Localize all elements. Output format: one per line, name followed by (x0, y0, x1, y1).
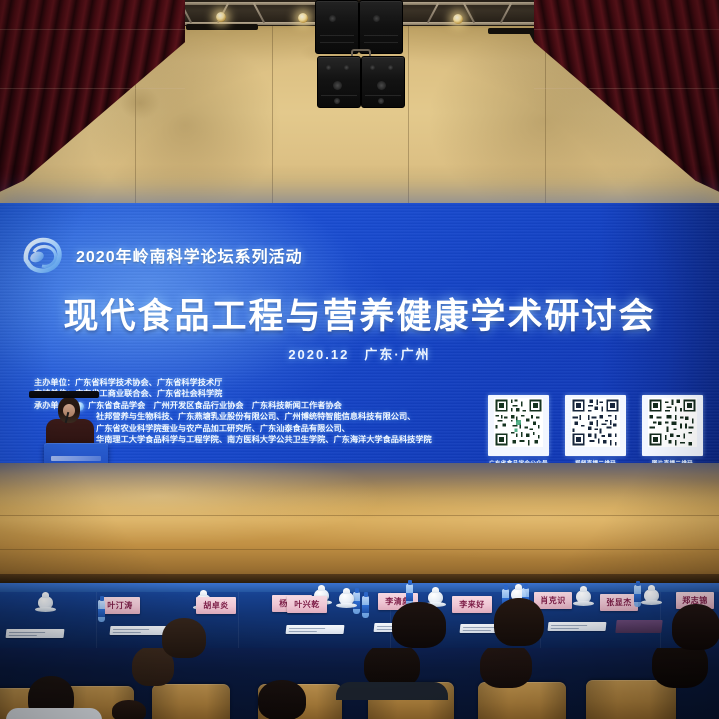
table-placard: 张显杰 (600, 594, 638, 611)
head-table-top (0, 583, 719, 592)
line-array-speakers (315, 0, 405, 106)
audience-chair (478, 682, 566, 719)
audience-head (652, 648, 708, 688)
conference-photo: 2020年岭南科学论坛系列活动 现代食品工程与营养健康学术研讨会 2020.12… (0, 0, 719, 719)
stage-light-icon (298, 13, 308, 23)
qr-code-item[interactable]: 图片直播二维码 (641, 395, 704, 467)
table-document (110, 626, 169, 635)
table-document (286, 625, 345, 634)
audience-chair (152, 684, 230, 719)
audience-head (258, 680, 306, 719)
qr-code-row: 广东省食品学会公众号 (487, 395, 705, 467)
table-placard: 叶汀涛 (100, 597, 140, 614)
water-bottle (634, 585, 641, 607)
table-folder (615, 620, 662, 633)
audience-head (480, 648, 532, 688)
audience-head (672, 604, 719, 650)
presenter-face (63, 404, 75, 417)
lingnan-science-forum-emblem-icon (14, 230, 70, 286)
event-date-location: 2020.12 广东·广州 (0, 344, 719, 363)
qr-guangdong-food-society-icon[interactable] (488, 395, 549, 456)
water-bottle (362, 596, 369, 618)
audience-shoulder (6, 708, 102, 719)
table-placard: 胡卓炎 (196, 597, 236, 614)
audience-seating (0, 648, 719, 719)
audience-head (494, 598, 544, 646)
table-document (548, 622, 607, 631)
audience-head (162, 618, 206, 658)
table-placard: 肖克识 (534, 592, 572, 609)
table-document (6, 629, 65, 638)
audience-shoulder (336, 682, 448, 700)
qr-code-item[interactable]: 视频直播二维码 (564, 395, 627, 467)
audience-head (112, 700, 146, 719)
table-placard: 李来好 (452, 596, 492, 613)
stage-light-icon (216, 12, 226, 22)
stage-curtain-left (0, 0, 185, 200)
qr-code-item[interactable]: 广东省食品学会公众号 (487, 395, 550, 467)
stage-front-edge (0, 574, 719, 583)
stage-floor (0, 463, 719, 581)
qr-live-stream-icon[interactable] (565, 395, 626, 456)
event-series-kicker: 2020年岭南科学论坛系列活动 (76, 243, 303, 267)
qr-photo-album-icon[interactable] (642, 395, 703, 456)
stage-curtain-right (534, 0, 719, 200)
stage-light-icon (453, 14, 463, 24)
water-bottle (98, 600, 105, 622)
organizer-line: 主办单位：广东省科学技术协会、广东省科学技术厅 (34, 377, 504, 388)
audience-head (392, 602, 446, 648)
event-title: 现代食品工程与营养健康学术研讨会 (0, 288, 719, 339)
table-placard: 叶兴乾 (287, 596, 327, 613)
